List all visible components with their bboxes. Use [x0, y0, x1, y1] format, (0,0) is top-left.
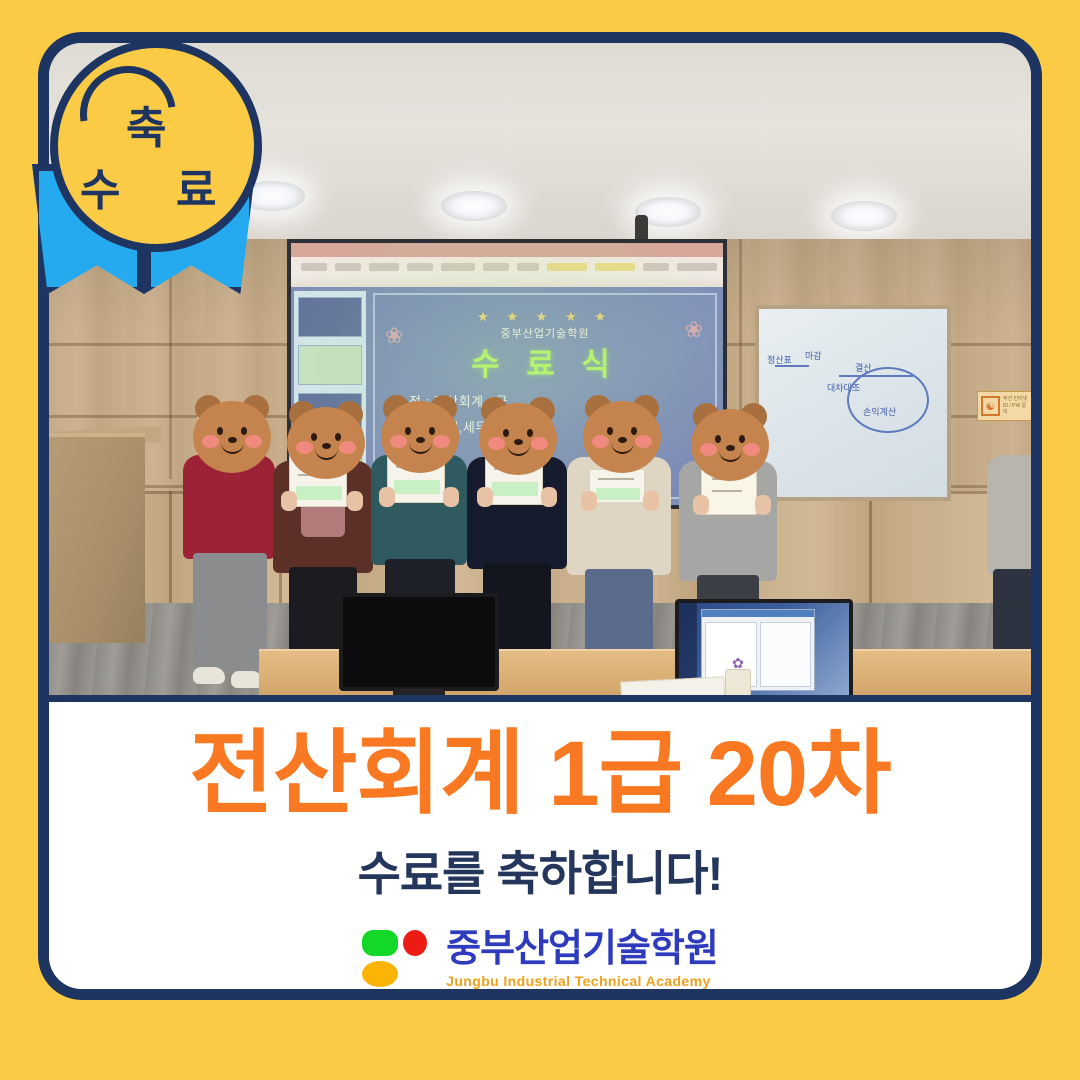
person-3-hand: [379, 487, 395, 507]
app-window-titlebar: [702, 610, 814, 617]
ppt-thumbnail: [298, 297, 362, 337]
person-3-hand: [443, 487, 459, 507]
person-5-certificate: [589, 469, 645, 503]
logo-shape-orange: [362, 961, 398, 987]
text-block: 전산회계 1급 20차 수료를 축하합니다! 중부산업기술학원 Jungbu I…: [49, 702, 1031, 989]
person-2-hand: [281, 491, 297, 511]
badge-char-left: 수: [80, 154, 120, 218]
person-4-hand: [477, 487, 493, 507]
wifi-sign-line2: ID / PW 문의: [1003, 403, 1029, 416]
ppt-titlebar: [291, 243, 723, 257]
person-6-hand: [693, 495, 709, 515]
ceiling-sensor-icon: [635, 215, 648, 242]
monitor-left: [339, 593, 499, 691]
academy-logo: 중부산업기술학원 Jungbu Industrial Technical Aca…: [362, 930, 718, 990]
whiteboard-line: [775, 365, 809, 367]
logo-text: 중부산업기술학원 Jungbu Industrial Technical Aca…: [446, 930, 718, 989]
logo-korean-name: 중부산업기술학원: [446, 930, 718, 968]
badge-char-top: 축: [126, 92, 166, 156]
badge-char-right: 료: [176, 154, 216, 218]
person-6-hand: [755, 495, 771, 515]
person-4-bear-face-icon: [479, 397, 557, 475]
flower-decoration-icon: ✿: [727, 655, 749, 673]
person-2-hand: [347, 491, 363, 511]
ppt-ribbon-toolbar: [291, 257, 723, 287]
logo-english-name: Jungbu Industrial Technical Academy: [446, 973, 718, 989]
page-title: 전산회계 1급 20차: [189, 726, 890, 823]
person-6-bear-face-icon: [691, 403, 769, 481]
whiteboard-note: 마감: [805, 349, 822, 362]
person-5-hand: [581, 491, 597, 511]
logo-mark: [362, 930, 428, 990]
monitor-left-screen: [343, 597, 495, 687]
photo-divider: [49, 695, 1031, 702]
wooden-podium: [49, 433, 145, 643]
ppt-thumbnail: [298, 345, 362, 385]
person-5-hand: [643, 491, 659, 511]
ceiling-light-2: [441, 191, 507, 221]
whiteboard-line: [839, 375, 913, 377]
app-detail-pane: [760, 622, 811, 687]
logo-shape-red: [403, 930, 427, 956]
slide-title: 수 료 식: [375, 339, 715, 384]
wifi-icon: ☯: [981, 396, 1000, 416]
person-5-bear-face-icon: [583, 395, 661, 473]
person-3-bear-face-icon: [381, 395, 459, 473]
logo-shape-green: [362, 930, 398, 956]
page-subtitle: 수료를 축하합니다!: [358, 835, 723, 904]
slide-stars: ★ ★ ★ ★ ★: [375, 309, 715, 325]
person-2-bear-face-icon: [287, 401, 365, 479]
person-1-shoe: [193, 667, 225, 684]
person-4-hand: [541, 487, 557, 507]
wifi-sign-line1: 무선 인터넷: [1003, 396, 1029, 403]
wifi-info-sign: ☯ 무선 인터넷 ID / PW 문의: [977, 391, 1031, 421]
ceiling-light-4: [831, 201, 897, 231]
whiteboard: 정산표 마감 결산 대차대조 손익계산: [755, 305, 951, 501]
person-1-bear-face-icon: [193, 395, 271, 473]
award-ribbon-badge: 축 수 료: [18, 14, 270, 296]
person-1-pants: [193, 553, 267, 673]
